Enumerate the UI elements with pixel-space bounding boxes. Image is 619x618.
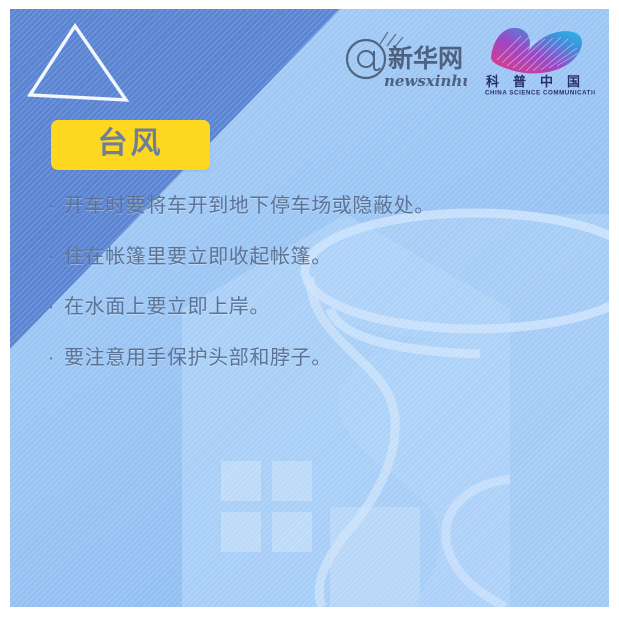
csc-cn-char-2: 普 <box>513 74 526 90</box>
list-item: · 在水面上要立即上岸。 <box>48 292 568 323</box>
xinhua-logo[interactable]: 新华网 newsxinhua 新华网 newsxinhua <box>344 30 467 94</box>
advice-list: · 开车时要将车开到地下停车场或隐蔽处。 · 住在帐篷里要立即收起帐篷。 · 在… <box>48 191 568 393</box>
csc-cn-char-1: 科 <box>486 74 499 90</box>
triangle-outline-icon <box>23 19 133 109</box>
bullet-dot-icon: · <box>48 294 64 323</box>
bottom-white-margin <box>0 607 619 618</box>
list-item-text: 在水面上要立即上岸。 <box>64 292 568 322</box>
list-item-text: 要注意用手保护头部和脖子。 <box>64 343 568 373</box>
list-item: · 住在帐篷里要立即收起帐篷。 <box>48 242 568 273</box>
title-badge: 台风 <box>51 120 210 170</box>
china-science-communication-logo[interactable]: 科 普 中 国 CHINA SCIENCE COMMUNICATION 科普中国… <box>481 20 595 96</box>
list-item: · 要注意用手保护头部和脖子。 <box>48 343 568 374</box>
bullet-dot-icon: · <box>48 244 64 273</box>
list-item-text: 住在帐篷里要立即收起帐篷。 <box>64 242 568 272</box>
xinhua-en-label: newsxinhua <box>384 72 467 90</box>
brand-logo-group: 新华网 newsxinhua 新华网 newsxinhua <box>344 20 595 96</box>
bullet-dot-icon: · <box>48 193 64 222</box>
csc-en-label: CHINA SCIENCE COMMUNICATION <box>485 90 595 97</box>
csc-cn-char-3: 中 <box>540 74 553 90</box>
house-door <box>330 507 420 607</box>
poster-canvas: 新华网 newsxinhua 新华网 newsxinhua <box>10 9 609 607</box>
csc-logo-mark: 科 普 中 国 CHINA SCIENCE COMMUNICATION <box>481 20 595 96</box>
xinhua-logo-mark: 新华网 newsxinhua <box>344 30 467 94</box>
list-item-text: 开车时要将车开到地下停车场或隐蔽处。 <box>64 191 568 221</box>
csc-cn-char-4: 国 <box>567 75 580 90</box>
list-item: · 开车时要将车开到地下停车场或隐蔽处。 <box>48 191 568 222</box>
bullet-dot-icon: · <box>48 345 64 374</box>
xinhua-cn-label: 新华网 <box>388 44 463 73</box>
